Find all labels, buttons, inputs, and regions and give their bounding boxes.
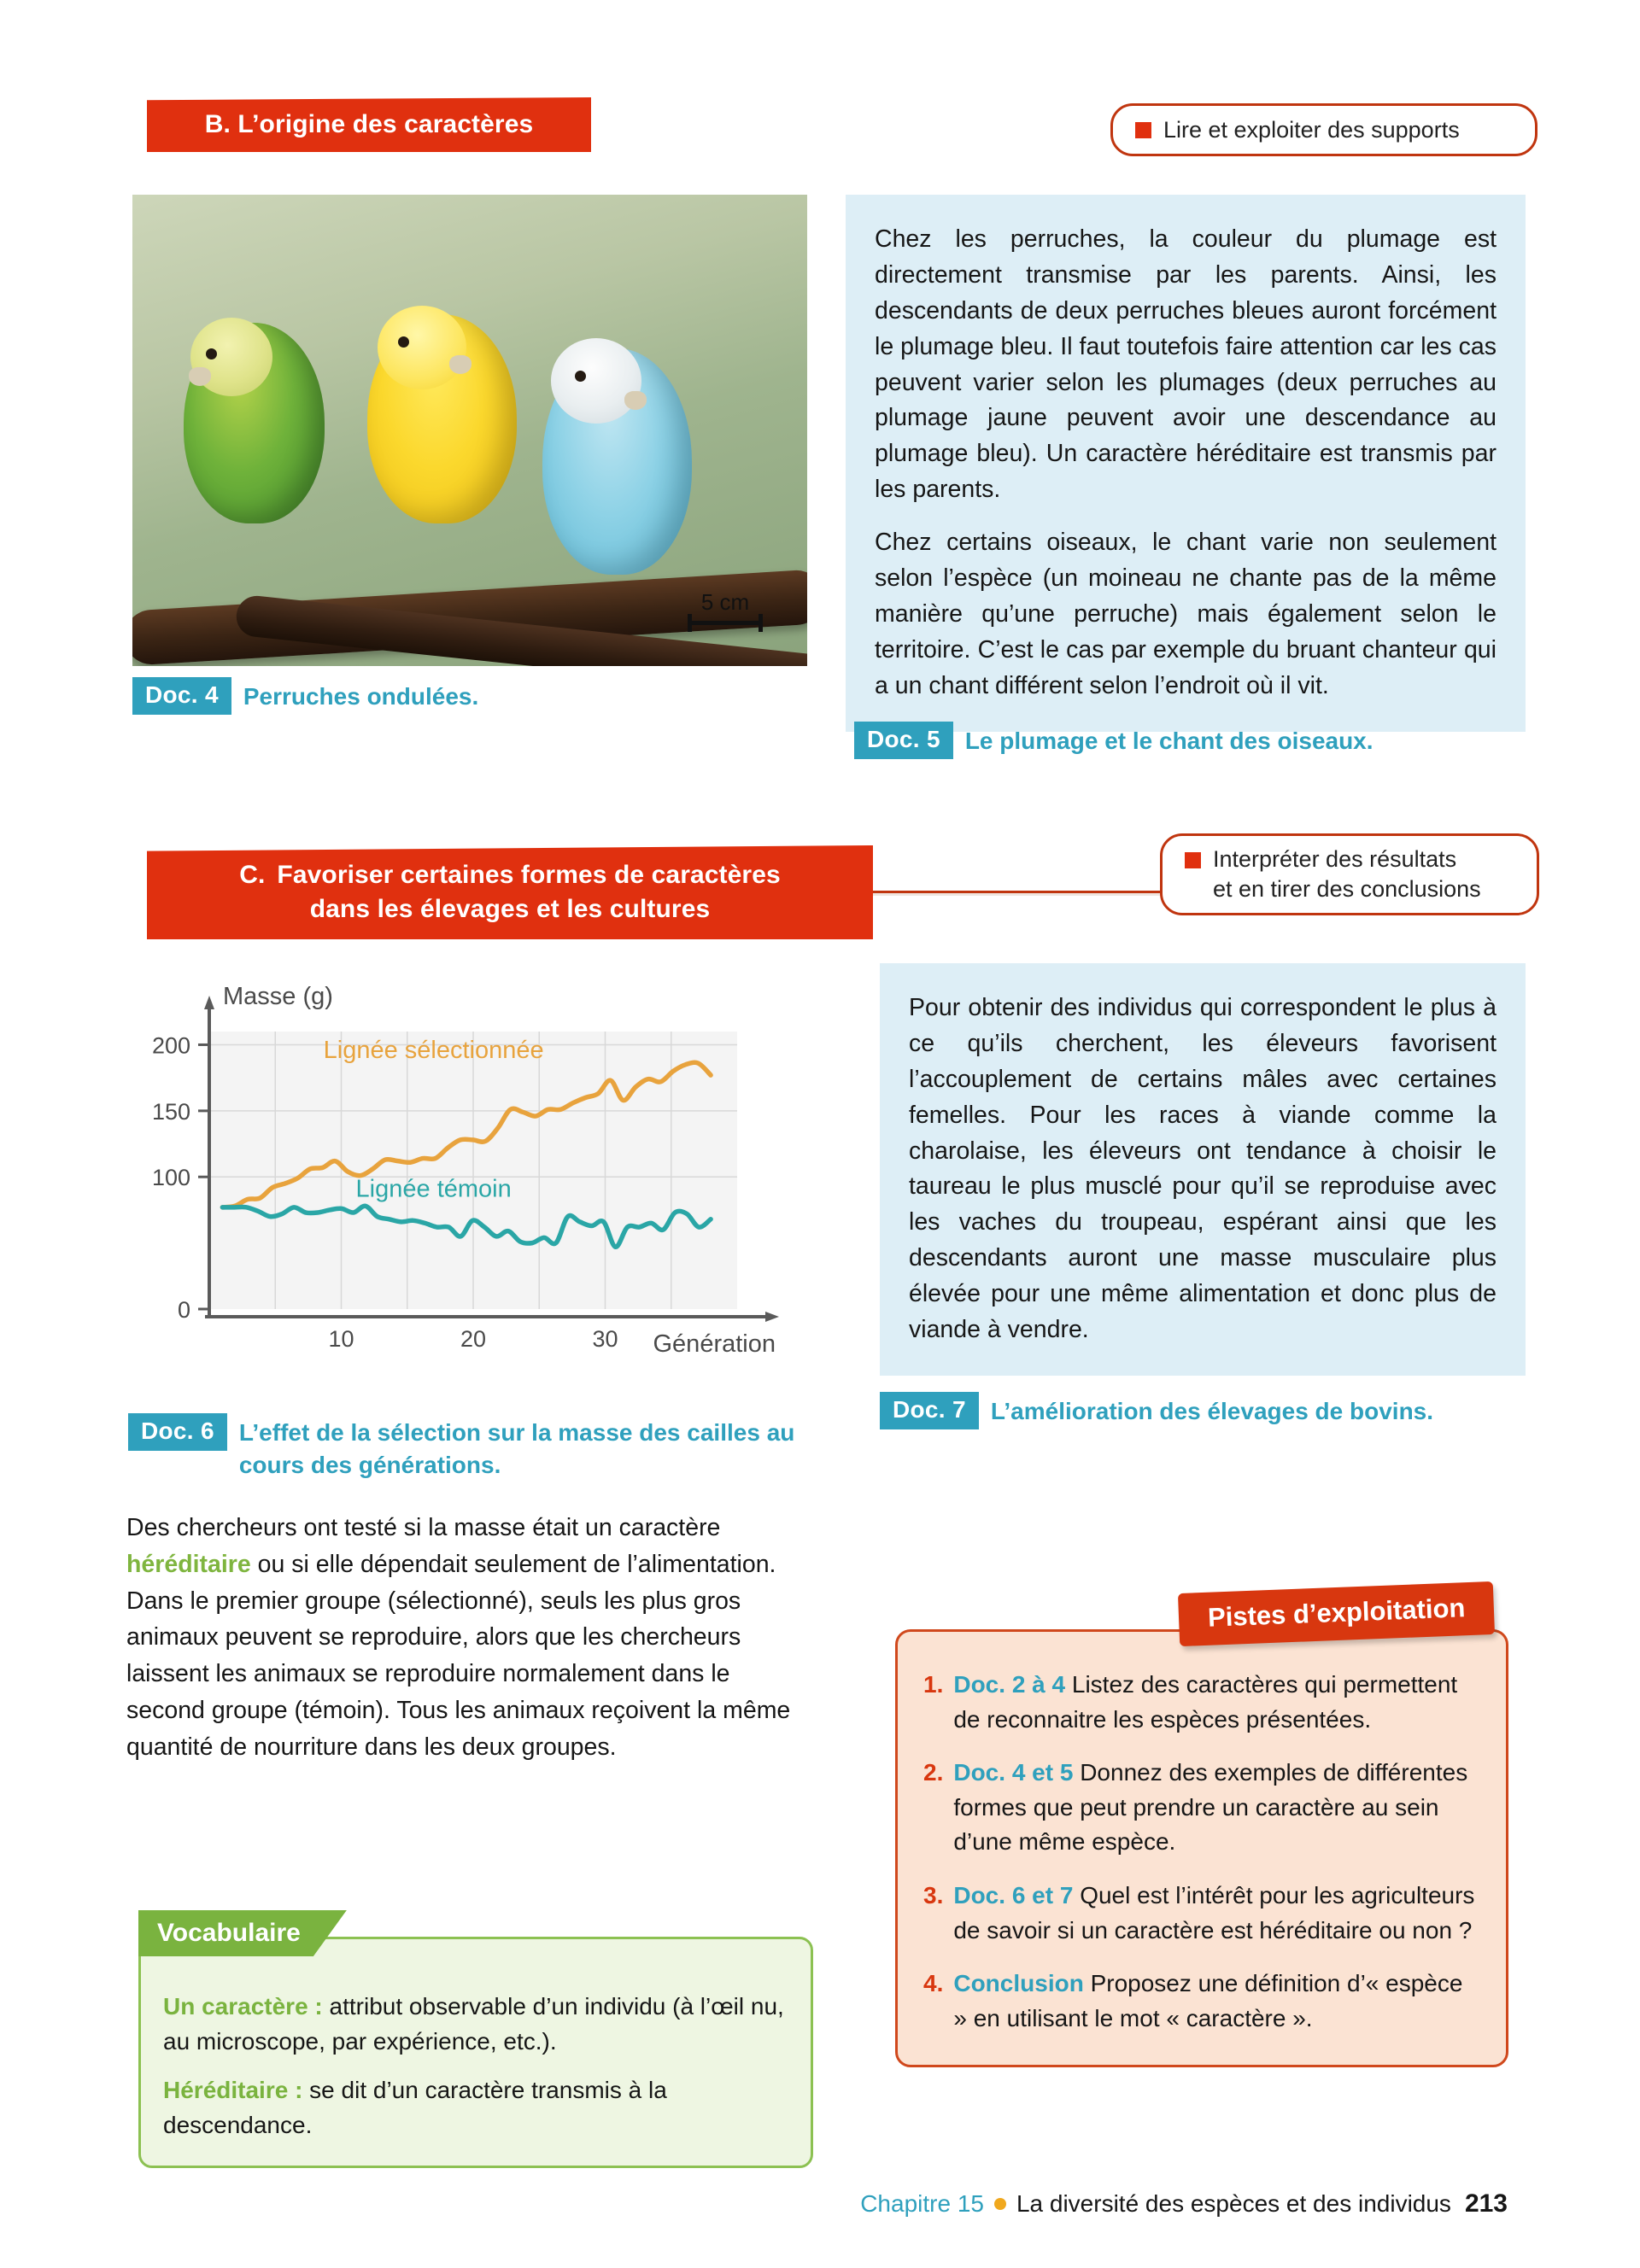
- doc6-chart: 0100150200102030Masse (g)GénérationLigné…: [137, 973, 820, 1375]
- svg-text:Lignée témoin: Lignée témoin: [356, 1175, 512, 1202]
- section-banner-b: B. L’origine des caractères: [147, 97, 591, 152]
- page-footer: Chapitre 15 La diversité des espèces et …: [860, 2189, 1508, 2218]
- doc6-caption-text: L’effet de la sélection sur la masse des…: [239, 1413, 837, 1482]
- section-c-line1-wrap: C. Favoriser certaines formes de caractè…: [239, 858, 781, 892]
- budgerigar-blue-eye: [575, 371, 586, 382]
- bullet-square-icon: [1135, 122, 1151, 138]
- doc7-caption-text: L’amélioration des élevages de bovins.: [991, 1392, 1433, 1428]
- footer-dot-icon: [994, 2198, 1006, 2210]
- doc4-caption-text: Perruches ondulées.: [243, 677, 478, 713]
- cailles-experiment-text: Des chercheurs ont testé si la masse éta…: [126, 1510, 801, 1765]
- doc7-caption: Doc. 7 L’amélioration des élevages de bo…: [880, 1392, 1433, 1429]
- budgerigar-yellow-head: [378, 306, 466, 389]
- doc4-photo-budgerigars: 5 cm: [132, 195, 807, 666]
- scale-bar: 5 cm: [688, 589, 763, 625]
- pistes-item-body-3: Doc. 6 et 7 Quel est l’intérêt pour les …: [953, 1879, 1480, 1948]
- cailles-text-part1: Des chercheurs ont testé si la masse éta…: [126, 1514, 720, 1541]
- doc5-tag: Doc. 5: [854, 722, 953, 759]
- page-number: 213: [1465, 2189, 1508, 2218]
- vocabulaire-tab: Vocabulaire: [138, 1910, 347, 1956]
- section-c-line2: dans les élevages et les cultures: [310, 892, 711, 926]
- bullet-square-icon: [1185, 852, 1201, 868]
- budgerigar-green: [184, 323, 325, 523]
- svg-text:Lignée sélectionnée: Lignée sélectionnée: [324, 1037, 544, 1064]
- pistes-tab: Pistes d’exploitation: [1177, 1581, 1495, 1646]
- pistes-item-number-3: 3.: [923, 1879, 943, 1948]
- budgerigar-yellow-beak: [449, 355, 471, 374]
- cailles-text-part2: ou si elle dépendait seulement de l’alim…: [126, 1551, 790, 1761]
- doc6-caption: Doc. 6 L’effet de la sélection sur la ma…: [128, 1413, 837, 1482]
- pistes-item-ref-2: Doc. 4 et 5: [953, 1759, 1073, 1786]
- doc7-panel: Pour obtenir des individus qui correspon…: [880, 963, 1526, 1376]
- vocabulaire-entry: Un caractère : attribut observable d’un …: [163, 1989, 788, 2059]
- competence-b-label: Lire et exploiter des supports: [1163, 117, 1460, 143]
- budgerigar-yellow: [367, 314, 517, 523]
- list-item: 3. Doc. 6 et 7 Quel est l’intérêt pour l…: [923, 1879, 1480, 1948]
- pistes-item-number-1: 1.: [923, 1668, 943, 1737]
- pistes-list: 1. Doc. 2 à 4 Listez des caractères qui …: [923, 1668, 1480, 2036]
- footer-chapter: Chapitre 15: [860, 2190, 984, 2218]
- section-banner-c: C. Favoriser certaines formes de caractè…: [147, 845, 873, 939]
- svg-text:10: 10: [328, 1326, 354, 1352]
- svg-text:100: 100: [152, 1165, 190, 1190]
- pistes-item-number-2: 2.: [923, 1756, 943, 1860]
- budgerigar-yellow-eye: [398, 336, 409, 348]
- svg-text:200: 200: [152, 1032, 190, 1058]
- pistes-item-body-1: Doc. 2 à 4 Listez des caractères qui per…: [953, 1668, 1480, 1737]
- doc4-tag: Doc. 4: [132, 677, 231, 715]
- scale-bar-label: 5 cm: [688, 589, 763, 616]
- footer-title: La diversité des espèces et des individu…: [1016, 2190, 1451, 2218]
- budgerigar-blue-beak: [624, 391, 647, 410]
- competence-c-line2: et en tirer des conclusions: [1213, 876, 1481, 902]
- section-c-line1: Favoriser certaines formes de caractères: [277, 858, 780, 892]
- budgerigar-blue: [542, 348, 692, 575]
- competence-pill-c: Interpréter des résultats et en tirer de…: [1160, 833, 1539, 915]
- section-b-label: B. L’origine des caractères: [205, 110, 534, 139]
- vocabulaire-title: Vocabulaire: [157, 1919, 301, 1948]
- doc7-tag: Doc. 7: [880, 1392, 979, 1429]
- svg-text:0: 0: [178, 1297, 190, 1323]
- list-item: 1. Doc. 2 à 4 Listez des caractères qui …: [923, 1668, 1480, 1737]
- chart-x-axis-arrow: [765, 1312, 779, 1322]
- pistes-item-number-4: 4.: [923, 1967, 943, 2036]
- doc4-caption: Doc. 4 Perruches ondulées.: [132, 677, 478, 715]
- cailles-text-highlight: héréditaire: [126, 1551, 251, 1578]
- budgerigar-green-beak: [189, 367, 211, 386]
- doc5-paragraph-2: Chez certains oiseaux, le chant varie no…: [875, 525, 1496, 704]
- svg-text:Masse (g): Masse (g): [223, 983, 333, 1010]
- svg-text:20: 20: [460, 1326, 486, 1352]
- banner-connector-c: [871, 891, 1162, 896]
- svg-text:Génération: Génération: [653, 1330, 776, 1358]
- svg-text:30: 30: [592, 1326, 618, 1352]
- budgerigar-blue-head: [551, 338, 641, 424]
- doc7-paragraph-1: Pour obtenir des individus qui correspon…: [909, 991, 1496, 1348]
- pistes-exploitation-box: Pistes d’exploitation 1. Doc. 2 à 4 List…: [895, 1629, 1508, 2067]
- section-c-letter: C.: [239, 858, 265, 892]
- chart-svg: 0100150200102030Masse (g)GénérationLigné…: [137, 973, 820, 1375]
- budgerigar-green-eye: [206, 348, 217, 359]
- competence-pill-b: Lire et exploiter des supports: [1110, 103, 1537, 156]
- vocabulaire-box: Vocabulaire Un caractère : attribut obse…: [138, 1937, 813, 2168]
- list-item: 2. Doc. 4 et 5 Donnez des exemples de di…: [923, 1756, 1480, 1860]
- chart-y-axis-arrow: [204, 996, 214, 1009]
- pistes-item-body-2: Doc. 4 et 5 Donnez des exemples de diffé…: [953, 1756, 1480, 1860]
- doc5-caption: Doc. 5 Le plumage et le chant des oiseau…: [854, 722, 1373, 759]
- pistes-item-body-4: Conclusion Proposez une définition d’« e…: [953, 1967, 1480, 2036]
- pistes-item-ref-3: Doc. 6 et 7: [953, 1882, 1073, 1909]
- competence-c-line1: Interpréter des résultats: [1213, 846, 1456, 872]
- list-item: 4. Conclusion Proposez une définition d’…: [923, 1967, 1480, 2036]
- vocabulaire-entry: Héréditaire : se dit d’un caractère tran…: [163, 2072, 788, 2142]
- competence-c-lines: Interpréter des résultats et en tirer de…: [1213, 845, 1481, 903]
- doc5-panel: Chez les perruches, la couleur du plumag…: [846, 195, 1526, 732]
- scale-bar-rule: [688, 621, 763, 625]
- vocabulaire-term-1: Un caractère :: [163, 1993, 323, 2020]
- pistes-item-ref-1: Doc. 2 à 4: [953, 1671, 1065, 1698]
- doc5-caption-text: Le plumage et le chant des oiseaux.: [965, 722, 1373, 757]
- pistes-item-ref-4: Conclusion: [953, 1970, 1083, 1996]
- svg-text:150: 150: [152, 1099, 190, 1125]
- textbook-page: B. L’origine des caractères Lire et expl…: [0, 0, 1640, 2268]
- pistes-title: Pistes d’exploitation: [1207, 1593, 1466, 1633]
- doc6-tag: Doc. 6: [128, 1413, 227, 1451]
- doc5-paragraph-1: Chez les perruches, la couleur du plumag…: [875, 222, 1496, 508]
- vocabulaire-term-2: Héréditaire :: [163, 2077, 302, 2103]
